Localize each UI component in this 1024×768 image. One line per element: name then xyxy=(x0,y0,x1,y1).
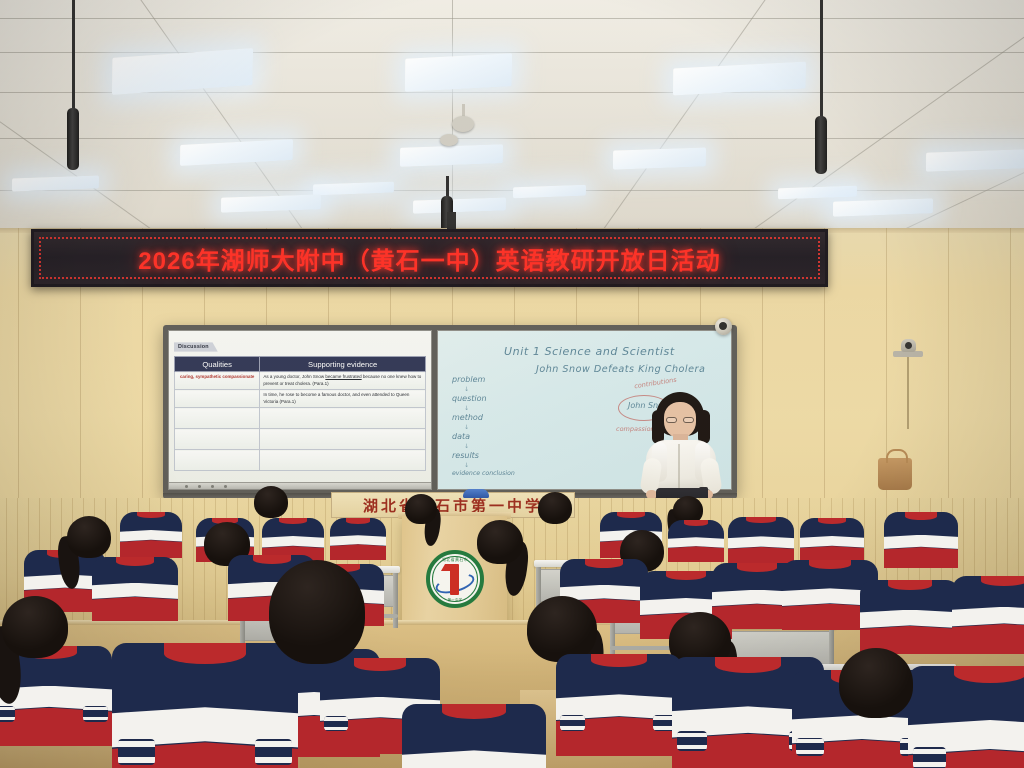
table-row: caring, sympathetic compassionateAs a yo… xyxy=(175,372,426,390)
column-header-evidence: Supporting evidence xyxy=(260,357,426,372)
cell-quality xyxy=(175,408,260,429)
uniform-collar xyxy=(666,571,706,580)
led-banner: 2026年湖师大附中（黄石一中）英语教研开放日活动 xyxy=(31,229,828,287)
whiteboard-step: problem xyxy=(452,375,485,384)
ceiling-grid xyxy=(0,0,1024,232)
uniform-collar xyxy=(442,704,505,719)
whiteboard-arrow: ↓ xyxy=(464,405,469,412)
student xyxy=(112,560,298,768)
cell-evidence: As a young doctor, John Snow became frus… xyxy=(260,372,426,390)
smoke-detector-icon xyxy=(452,116,474,132)
student-head xyxy=(839,648,913,718)
mic-rod xyxy=(446,176,449,198)
mic-rod xyxy=(72,0,75,112)
smoke-detector-icon xyxy=(440,134,458,146)
uniform-cuff xyxy=(255,739,292,765)
student xyxy=(402,648,546,768)
ptz-camera-icon xyxy=(893,339,923,357)
ceiling xyxy=(0,0,1024,232)
uniform-white-stripe xyxy=(402,750,546,768)
uniform-collar xyxy=(137,512,164,518)
school-emblem: 湖北省黄石市 第一中学 xyxy=(426,550,484,608)
hanging-microphone-icon xyxy=(815,116,827,174)
uniform-collar xyxy=(746,517,775,523)
cell-quality xyxy=(175,429,260,450)
dome-camera-icon xyxy=(715,318,732,335)
emblem-text-bottom: 第一中学 xyxy=(426,597,484,602)
uniform-collar xyxy=(715,657,782,673)
whiteboard-arrow: ↓ xyxy=(464,386,469,393)
presentation-slide: Discussion Qualities Supporting evidence… xyxy=(169,331,431,489)
uniform-collar xyxy=(684,520,709,525)
whiteboard-step: method xyxy=(452,413,483,422)
uniform-cuff xyxy=(0,706,15,722)
student-head xyxy=(2,596,68,658)
whiteboard-step: evidence conclusion xyxy=(452,470,515,477)
camera-lens xyxy=(905,342,912,349)
cell-evidence: In time, he rose to become a famous doct… xyxy=(260,390,426,408)
cell-quality xyxy=(175,390,260,408)
uniform-cuff xyxy=(83,706,108,722)
uniform-collar xyxy=(905,512,938,519)
uniform-collar xyxy=(591,654,646,667)
emblem-digit xyxy=(450,564,459,595)
table-row: In time, he rose to become a famous doct… xyxy=(175,390,426,408)
whiteboard-arrow: ↓ xyxy=(464,443,469,450)
camera-cable xyxy=(907,357,909,429)
slide-table: Qualities Supporting evidence caring, sy… xyxy=(174,356,426,471)
table-body: caring, sympathetic compassionateAs a yo… xyxy=(175,372,426,471)
ceiling-light-panel xyxy=(613,147,706,169)
cell-evidence xyxy=(260,429,426,450)
whiteboard-title-line1: Unit 1 Science and Scientist xyxy=(504,345,675,358)
glasses-icon xyxy=(666,417,677,423)
ceiling-light-panel xyxy=(513,184,586,197)
whiteboard-step: data xyxy=(452,432,470,441)
whiteboard-arrow: ↓ xyxy=(464,424,469,431)
table-row xyxy=(175,450,426,471)
ceiling-light-panel xyxy=(926,149,1024,172)
uniform-cuff xyxy=(560,715,585,731)
smart-display[interactable]: Discussion Qualities Supporting evidence… xyxy=(168,330,432,490)
table-row xyxy=(175,408,426,429)
cell-evidence xyxy=(260,408,426,429)
emblem-text-top: 湖北省黄石市 xyxy=(426,557,484,563)
display-indicator xyxy=(185,485,188,488)
uniform-collar xyxy=(954,666,1024,684)
student xyxy=(0,596,112,758)
whiteboard-arrow: ↓ xyxy=(464,462,469,469)
glasses-icon xyxy=(683,417,694,423)
uniform-cuff xyxy=(324,716,348,731)
whiteboard-step: results xyxy=(452,451,479,460)
blue-fixture xyxy=(463,489,489,498)
uniform-collar xyxy=(809,560,851,569)
uniform-collar xyxy=(585,559,624,567)
whiteboard-red-note-top: contributions xyxy=(634,376,678,391)
ceiling-light-panel xyxy=(405,53,512,92)
student xyxy=(556,604,682,768)
whiteboard-title-line2: John Snow Defeats King Cholera xyxy=(536,364,705,375)
teacher-face xyxy=(664,402,696,438)
student-head xyxy=(269,560,365,664)
column-header-qualities: Qualities xyxy=(175,357,260,372)
uniform-cuff xyxy=(677,731,707,751)
hanging-microphone-icon xyxy=(67,108,79,170)
led-banner-text: 2026年湖师大附中（黄石一中）英语教研开放日活动 xyxy=(138,241,720,276)
table-header-row: Qualities Supporting evidence xyxy=(175,357,426,372)
classroom-photo: 2026年湖师大附中（黄石一中）英语教研开放日活动 Discussion Qua… xyxy=(0,0,1024,768)
student-uniform xyxy=(556,654,682,756)
cell-quality xyxy=(175,450,260,471)
uniform-collar xyxy=(981,576,1024,586)
student-head xyxy=(477,520,523,564)
cell-evidence xyxy=(260,450,426,471)
uniform-cuff xyxy=(796,738,824,756)
table-row xyxy=(175,429,426,450)
student-head xyxy=(538,492,572,524)
display-indicator xyxy=(211,485,214,488)
student-uniform xyxy=(402,704,546,768)
display-indicator xyxy=(198,485,201,488)
whiteboard-step: question xyxy=(452,394,487,403)
uniform-cuff xyxy=(913,747,946,768)
uniform-collar xyxy=(888,580,932,590)
student xyxy=(908,600,1024,768)
uniform-collar xyxy=(164,643,246,664)
uniform-collar xyxy=(737,563,777,572)
display-indicator xyxy=(224,485,227,488)
ceiling-light-panel xyxy=(400,144,503,167)
uniform-collar xyxy=(617,512,644,518)
mic-rod xyxy=(820,0,823,120)
slide-tag: Discussion xyxy=(174,342,218,351)
cell-quality: caring, sympathetic compassionate xyxy=(175,372,260,390)
display-chin xyxy=(169,482,431,489)
blouse-placket xyxy=(678,444,680,488)
uniform-collar xyxy=(354,658,407,670)
uniform-cuff xyxy=(118,739,155,765)
uniform-collar xyxy=(346,518,371,523)
student-head xyxy=(405,494,437,524)
